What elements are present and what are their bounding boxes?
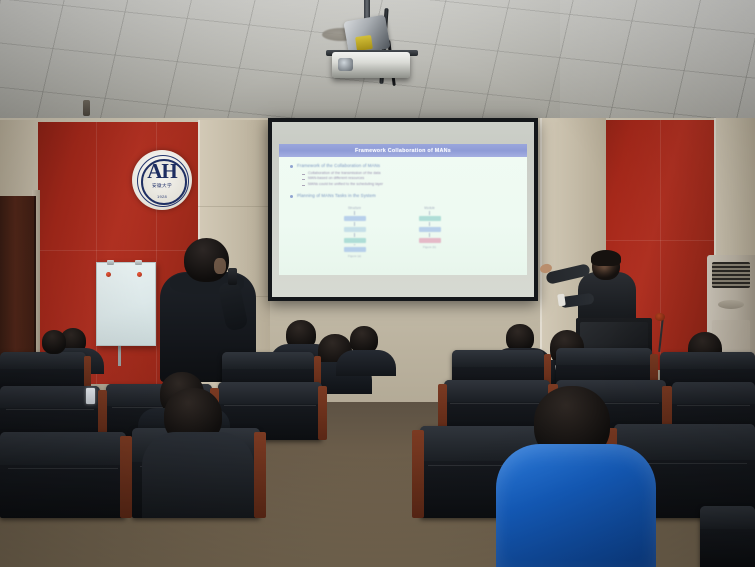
diagram-node bbox=[419, 238, 441, 243]
chair-backrest bbox=[660, 352, 755, 369]
projector-lens-icon bbox=[338, 58, 353, 71]
pillar-edge bbox=[540, 118, 542, 368]
chair-backrest bbox=[0, 386, 100, 408]
chair-backrest bbox=[218, 382, 322, 404]
handheld-microphone[interactable] bbox=[228, 268, 237, 285]
diagram-arrow-icon bbox=[429, 233, 430, 237]
whiteboard-clip[interactable] bbox=[135, 260, 142, 265]
slide-diagram-a: Structure + Figure (a) bbox=[331, 206, 379, 268]
panel-seam bbox=[38, 250, 206, 251]
whiteboard-stand bbox=[118, 344, 121, 366]
presenter-shirt-cuff bbox=[557, 294, 566, 307]
emblem-monogram: AH bbox=[132, 161, 192, 182]
projection-screen: Framework Collaboration of MANs Framewor… bbox=[268, 118, 538, 301]
audience-head bbox=[42, 330, 66, 354]
presenter-hair bbox=[591, 250, 621, 266]
chair-armrest bbox=[254, 432, 266, 518]
slide-bullet-text: Planning of MANs Tasks in the System bbox=[297, 193, 376, 198]
slide-subbullet: Collaboration of the transmission of the… bbox=[302, 171, 519, 175]
pillar-seam bbox=[198, 206, 270, 207]
university-emblem: AH 安徽大学 1928 bbox=[132, 150, 192, 210]
ac-brand-logo bbox=[718, 300, 744, 309]
slide-bullet: Planning of MANs Tasks in the System bbox=[290, 193, 519, 198]
chair-seam bbox=[8, 468, 119, 469]
diagram-node bbox=[344, 216, 366, 221]
slide-bullet: Framework of the Collaboration of MANs bbox=[290, 163, 519, 168]
chair-backrest bbox=[672, 382, 755, 404]
diagram-arrow-icon bbox=[354, 233, 355, 237]
chair-seam bbox=[450, 403, 543, 404]
emblem-year: 1928 bbox=[132, 194, 192, 199]
smartphone-screen[interactable] bbox=[86, 388, 95, 404]
slide-subbullet-text: MANs could be unified to the scheduling … bbox=[308, 182, 383, 186]
diagram-node bbox=[419, 227, 441, 232]
slide-subbullet: MANs could be unified to the scheduling … bbox=[302, 182, 519, 186]
screen-surface: Framework Collaboration of MANs Framewor… bbox=[272, 122, 534, 297]
chair-armrest bbox=[120, 436, 132, 518]
audience-shoulders bbox=[142, 432, 254, 518]
diagram-node bbox=[344, 227, 366, 232]
chair-armrest bbox=[412, 430, 424, 518]
slide-subbullet-text: MAN-based on different resources bbox=[308, 176, 364, 180]
subbullet-dash-icon bbox=[302, 179, 305, 180]
diagram-node bbox=[344, 247, 366, 252]
slide-bullet-text: Framework of the Collaboration of MANs bbox=[297, 163, 380, 168]
diagram-footer: Figure (b) bbox=[406, 245, 454, 249]
chair-backrest bbox=[556, 348, 652, 365]
diagram-footer: Figure (a) bbox=[331, 254, 379, 258]
presentation-slide: Framework Collaboration of MANs Framewor… bbox=[279, 144, 527, 275]
audience-blue-jacket bbox=[496, 444, 656, 567]
diagram-caption: Structure bbox=[331, 206, 379, 210]
diagram-arrow-icon bbox=[429, 211, 430, 215]
chair-seam bbox=[677, 405, 750, 406]
ac-grill-icon bbox=[712, 262, 750, 288]
slide-subbullet: MAN-based on different resources bbox=[302, 176, 519, 180]
subbullet-dash-icon bbox=[302, 185, 305, 186]
chair-seam bbox=[6, 409, 94, 410]
conference-room-photo: AH 安徽大学 1928 Framework Collaboration of … bbox=[0, 0, 755, 567]
chair-backrest bbox=[0, 352, 86, 369]
chair-seam bbox=[224, 405, 316, 406]
diagram-node bbox=[419, 216, 441, 221]
emblem-subtitle: 安徽大学 bbox=[132, 183, 192, 189]
flipchart-whiteboard bbox=[96, 262, 156, 346]
slide-diagram-group: Structure + Figure (a) Module bbox=[317, 206, 467, 268]
whiteboard-magnet[interactable] bbox=[106, 272, 111, 277]
whiteboard-magnet[interactable] bbox=[137, 272, 142, 277]
microphone-head-icon bbox=[655, 313, 665, 321]
wall-sensor-icon bbox=[83, 100, 90, 116]
standing-attendee-face bbox=[214, 258, 226, 274]
bullet-dot-icon bbox=[290, 165, 293, 168]
chair-backrest bbox=[222, 352, 314, 369]
slide-title: Framework Collaboration of MANs bbox=[355, 148, 451, 154]
chair-backrest bbox=[452, 350, 544, 367]
subbullet-dash-icon bbox=[302, 174, 305, 175]
slide-diagram-b: Module Figure (b) bbox=[406, 206, 454, 268]
slide-subbullet-text: Collaboration of the transmission of the… bbox=[308, 171, 381, 175]
diagram-arrow-icon bbox=[429, 222, 430, 226]
chair-backrest bbox=[0, 432, 126, 465]
chair-armrest bbox=[318, 386, 327, 440]
diagram-arrow-icon bbox=[354, 211, 355, 215]
slide-title-bar: Framework Collaboration of MANs bbox=[279, 144, 527, 157]
bullet-dot-icon bbox=[290, 195, 293, 198]
chair[interactable] bbox=[700, 506, 755, 567]
diagram-arrow-icon bbox=[354, 222, 355, 226]
chair[interactable] bbox=[0, 432, 126, 518]
slide-body: Framework of the Collaboration of MANs C… bbox=[290, 163, 519, 200]
whiteboard-clip[interactable] bbox=[107, 260, 114, 265]
chair-backrest bbox=[444, 380, 550, 402]
projector-yellow-clamp bbox=[355, 35, 373, 51]
audience-shoulders bbox=[336, 350, 396, 376]
chair-backrest bbox=[700, 506, 755, 529]
diagram-caption: Module bbox=[406, 206, 454, 210]
